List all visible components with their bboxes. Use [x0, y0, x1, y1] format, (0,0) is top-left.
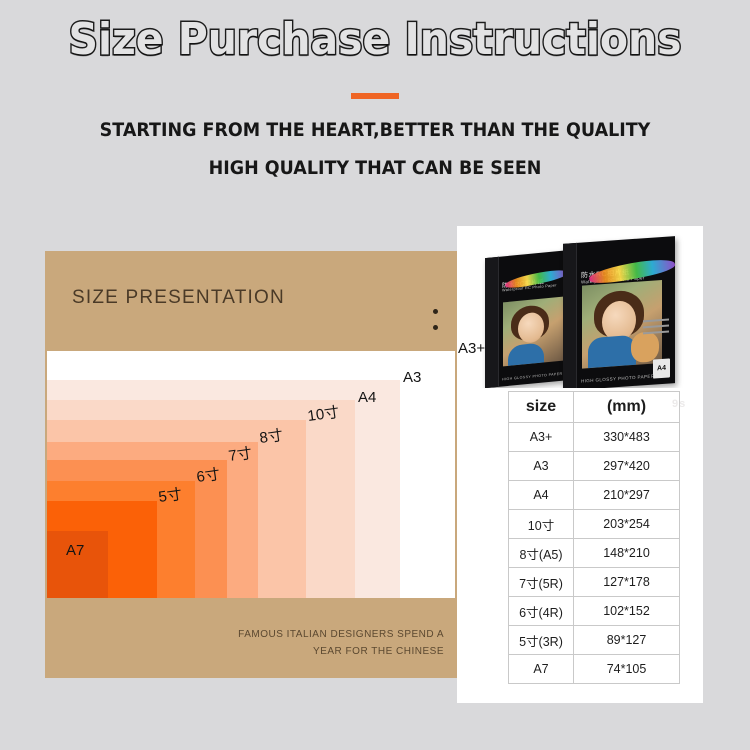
package-box-back: 防水RC相片纸 Waterproof RC Photo Paper HIGH G…: [485, 250, 571, 388]
size-box-label: 5寸: [157, 483, 183, 507]
size-mm-cell: 89*127: [574, 626, 680, 655]
size-name-cell: 10寸: [509, 510, 574, 539]
size-box-label: 10寸: [306, 401, 340, 426]
size-comparison-diagram: A3+A3A410寸8寸7寸6寸5寸A7: [47, 351, 455, 598]
product-package-photo: 防水RC相片纸 Waterproof RC Photo Paper HIGH G…: [463, 230, 697, 388]
size-name-cell: 6寸(4R): [509, 597, 574, 626]
size-mm-cell: 102*152: [574, 597, 680, 626]
size-mm-cell: 210*297: [574, 481, 680, 510]
size-box-label: A3: [403, 369, 421, 386]
size-box-label: A7: [66, 542, 84, 559]
puppy-illustration: [631, 331, 659, 363]
package-spine: [563, 243, 577, 388]
size-table: size(mm)A3+330*483A3297*420A4210*29710寸2…: [508, 391, 680, 684]
table-row: 10寸203*254: [509, 510, 680, 539]
table-row: 6寸(4R)102*152: [509, 597, 680, 626]
size-name-cell: A7: [509, 655, 574, 684]
panel-caption-line-1: FAMOUS ITALIAN DESIGNERS SPEND A: [238, 626, 444, 643]
table-row: 5寸(3R)89*127: [509, 626, 680, 655]
package-footer-front: HIGH GLOSSY PHOTO PAPER: [581, 374, 654, 384]
table-row: 7寸(5R)127*178: [509, 568, 680, 597]
panel-caption-line-2: YEAR FOR THE CHINESE: [238, 643, 444, 660]
table-header-cell: size: [509, 392, 574, 423]
table-row: A3+330*483: [509, 423, 680, 452]
size-mm-cell: 148*210: [574, 539, 680, 568]
dot-icon: [433, 309, 438, 314]
table-row: A3297*420: [509, 452, 680, 481]
size-mm-cell: 74*105: [574, 655, 680, 684]
subtitle-line-2: HIGH QUALITY THAT CAN BE SEEN: [30, 157, 720, 179]
page-root: Size Purchase Instructions STARTING FROM…: [0, 0, 750, 750]
package-feature-lines: [643, 319, 669, 335]
panel-caption: FAMOUS ITALIAN DESIGNERS SPEND A YEAR FO…: [238, 626, 444, 660]
size-presentation-panel: SIZE PRESENTATION A3+A3A410寸8寸7寸6寸5寸A7 F…: [45, 251, 457, 678]
size-box-label: 6寸: [195, 463, 221, 487]
size-name-cell: A4: [509, 481, 574, 510]
size-name-cell: 8寸(A5): [509, 539, 574, 568]
size-mm-cell: 297*420: [574, 452, 680, 481]
size-box-label: 7寸: [227, 442, 253, 466]
feature-line: [643, 325, 669, 329]
size-name-cell: A3: [509, 452, 574, 481]
dots-decoration: [433, 309, 438, 330]
size-mm-cell: 127*178: [574, 568, 680, 597]
panel-heading: SIZE PRESENTATION: [72, 287, 285, 309]
feature-line: [643, 319, 669, 323]
child-shirt: [508, 342, 544, 365]
package-box-front: 防水RC相片纸 Waterproof RC Photo Paper A4 HIG…: [563, 236, 675, 388]
product-info-card: 防水RC相片纸 Waterproof RC Photo Paper HIGH G…: [457, 226, 703, 703]
package-spine: [485, 257, 499, 388]
table-header-row: size(mm): [509, 392, 680, 423]
package-footer-back: HIGH GLOSSY PHOTO PAPER: [502, 372, 563, 382]
size-box-label: A3+: [458, 340, 485, 357]
size-name-cell: 7寸(5R): [509, 568, 574, 597]
size-box-label: A4: [358, 389, 376, 406]
table-row: A774*105: [509, 655, 680, 684]
child-face: [518, 311, 544, 344]
page-title: Size Purchase Instructions: [26, 14, 724, 65]
dot-icon: [433, 325, 438, 330]
child-shirt: [588, 335, 636, 368]
size-mm-cell: 203*254: [574, 510, 680, 539]
table-header-cell: (mm): [574, 392, 680, 423]
size-mm-cell: 330*483: [574, 423, 680, 452]
size-badge: A4: [653, 358, 670, 378]
size-name-cell: 5寸(3R): [509, 626, 574, 655]
package-child-photo: [503, 297, 563, 367]
size-box-label: 8寸: [258, 424, 284, 448]
size-name-cell: A3+: [509, 423, 574, 452]
title-divider: [351, 93, 399, 99]
table-row: A4210*297: [509, 481, 680, 510]
table-row: 8寸(A5)148*210: [509, 539, 680, 568]
subtitle-line-1: STARTING FROM THE HEART,BETTER THAN THE …: [30, 119, 720, 141]
